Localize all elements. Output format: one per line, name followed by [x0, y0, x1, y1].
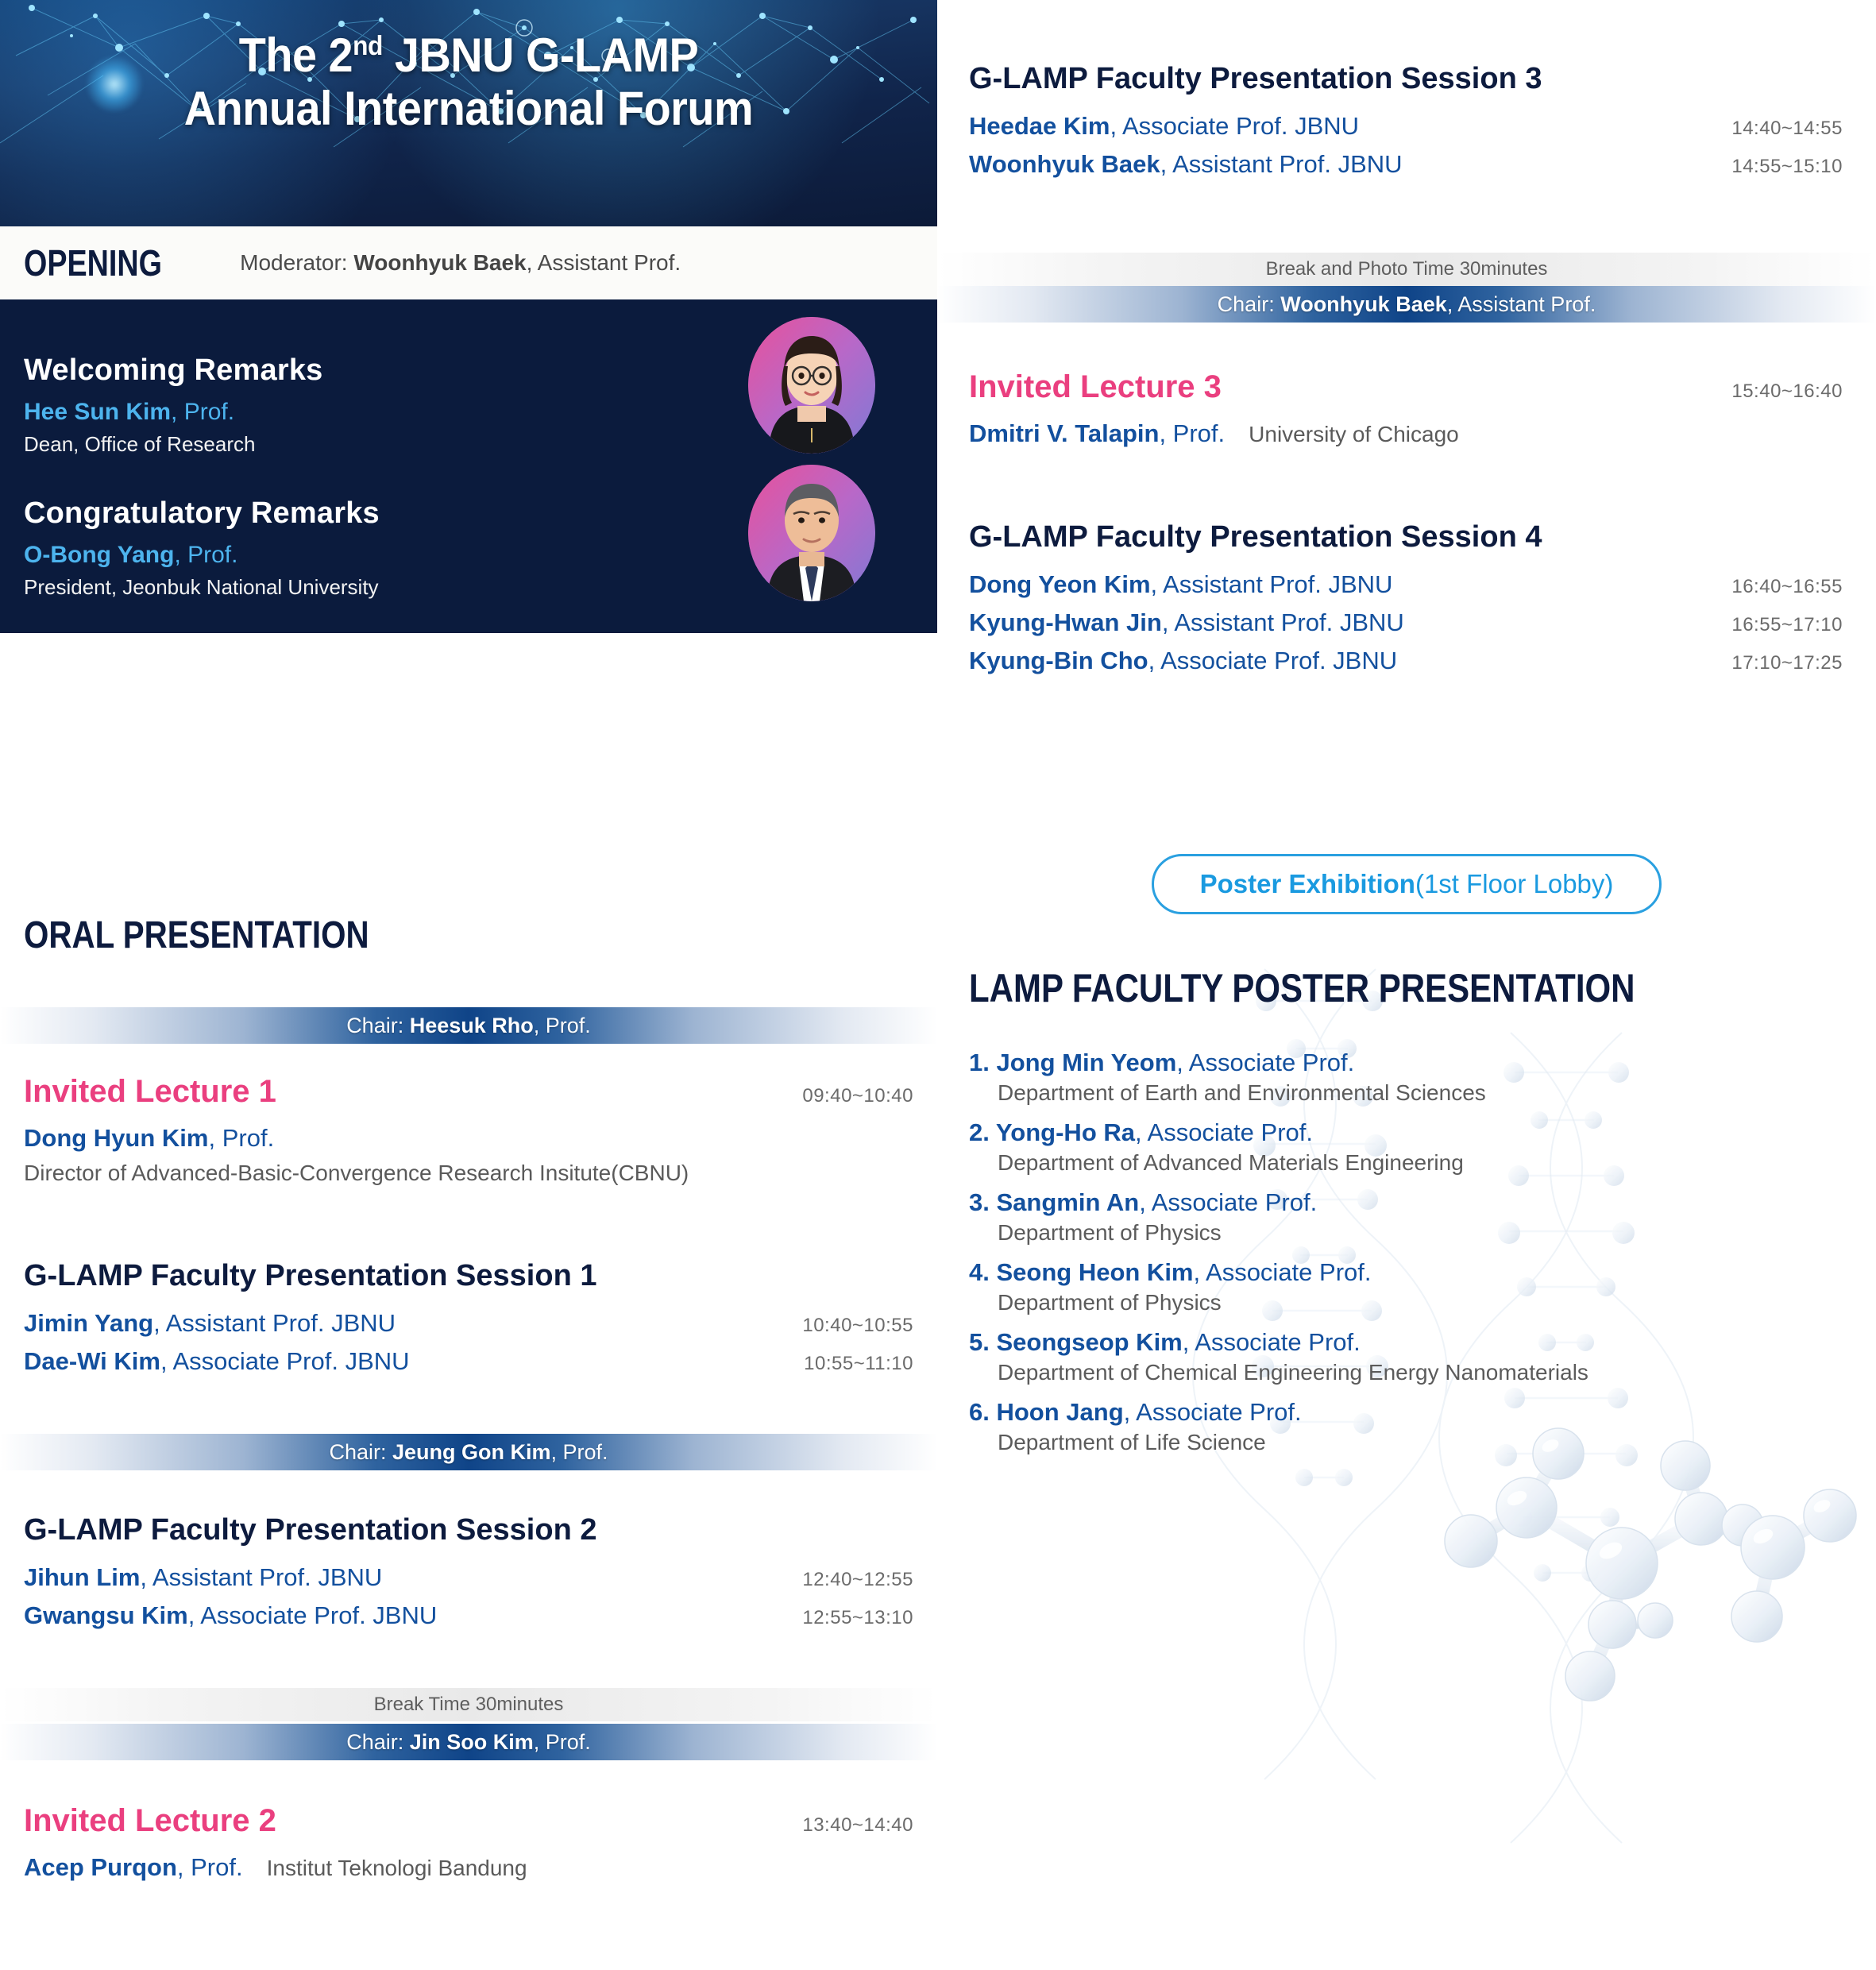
session-4-speaker-2: Kyung-Hwan Jin, Assistant Prof. JBNU — [969, 608, 1404, 637]
poster-4-dept: Department of Physics — [998, 1290, 1851, 1315]
session-4-time-2: 16:55~17:10 — [1731, 614, 1843, 636]
invited-lecture-1-affiliation: Director of Advanced-Basic-Convergence R… — [24, 1161, 913, 1186]
table-row: Heedae Kim, Associate Prof. JBNU 14:40~1… — [969, 112, 1843, 141]
session-4-time-1: 16:40~16:55 — [1731, 576, 1843, 598]
session-4-block: G-LAMP Faculty Presentation Session 4 Do… — [969, 520, 1843, 675]
poster-5-name: 5. Seongseop Kim, Associate Prof. — [969, 1328, 1851, 1357]
table-row: Dae-Wi Kim, Associate Prof. JBNU 10:55~1… — [24, 1347, 913, 1376]
poster-5-dept: Department of Chemical Engineering Energ… — [998, 1360, 1851, 1385]
opening-moderator: Moderator: Woonhyuk Baek, Assistant Prof… — [240, 250, 681, 276]
list-item: 1. Jong Min Yeom, Associate Prof. Depart… — [969, 1049, 1851, 1106]
invited-lecture-2-affiliation: Institut Teknologi Bandung — [267, 1856, 527, 1881]
session-3-title: G-LAMP Faculty Presentation Session 3 — [969, 62, 1843, 96]
session-1-block: G-LAMP Faculty Presentation Session 1 Ji… — [24, 1259, 913, 1376]
poster-presentation-heading-wrap: LAMP FACULTY POSTER PRESENTATION — [969, 965, 1762, 1011]
session-2-title: G-LAMP Faculty Presentation Session 2 — [24, 1513, 913, 1547]
invited-lecture-3-block: Invited Lecture 3 15:40~16:40 Dmitri V. … — [969, 369, 1843, 448]
poster-list: 1. Jong Min Yeom, Associate Prof. Depart… — [969, 1049, 1851, 1468]
list-item: 4. Seong Heon Kim, Associate Prof. Depar… — [969, 1258, 1851, 1315]
session-1-title: G-LAMP Faculty Presentation Session 1 — [24, 1259, 913, 1293]
session-4-time-3: 17:10~17:25 — [1731, 652, 1843, 674]
invited-lecture-1-title: Invited Lecture 1 — [24, 1074, 276, 1110]
invited-lecture-3-time: 15:40~16:40 — [1731, 380, 1843, 403]
poster-exhibition-badge-wrap: Poster Exhibition (1st Floor Lobby) — [937, 854, 1876, 914]
congratulatory-remarks-block: Congratulatory Remarks O-Bong Yang, Prof… — [24, 496, 380, 600]
molecule-graphic — [1445, 1428, 1856, 1701]
session-3-speaker-2: Woonhyuk Baek, Assistant Prof. JBNU — [969, 150, 1403, 179]
session-2-time-2: 12:55~13:10 — [802, 1607, 913, 1629]
list-item: 6. Hoon Jang, Associate Prof. Department… — [969, 1398, 1851, 1455]
table-row: Jimin Yang, Assistant Prof. JBNU 10:40~1… — [24, 1309, 913, 1338]
session-4-speaker-3: Kyung-Bin Cho, Associate Prof. JBNU — [969, 647, 1397, 675]
invited-lecture-1-block: Invited Lecture 1 09:40~10:40 Dong Hyun … — [24, 1074, 913, 1186]
welcoming-remarks-role: Dean, Office of Research — [24, 432, 323, 457]
oral-presentation-heading: ORAL PRESENTATION — [24, 914, 369, 957]
session-4-title: G-LAMP Faculty Presentation Session 4 — [969, 520, 1843, 554]
session-1-speaker-1: Jimin Yang, Assistant Prof. JBNU — [24, 1309, 396, 1338]
congratulatory-remarks-speaker: O-Bong Yang, Prof. — [24, 542, 380, 569]
poster-6-dept: Department of Life Science — [998, 1430, 1851, 1455]
session-3-block: G-LAMP Faculty Presentation Session 3 He… — [969, 62, 1843, 179]
oral-presentation-heading-wrap: ORAL PRESENTATION — [24, 914, 434, 957]
table-row: Gwangsu Kim, Associate Prof. JBNU 12:55~… — [24, 1601, 913, 1630]
poster-exhibition-location: (1st Floor Lobby) — [1415, 869, 1613, 899]
congratulatory-remarks-role: President, Jeonbuk National University — [24, 575, 380, 600]
poster-exhibition-badge[interactable]: Poster Exhibition (1st Floor Lobby) — [1152, 854, 1662, 914]
forum-program-poster: The 2nd JBNU G-LAMP Annual International… — [0, 0, 1876, 1970]
poster-exhibition-label: Poster Exhibition — [1200, 869, 1415, 899]
moderator-prefix: Moderator: — [240, 250, 353, 275]
moderator-name: Woonhyuk Baek — [353, 250, 526, 275]
chair-bar-jin-soo-kim: Chair: Jin Soo Kim, Prof. — [0, 1724, 937, 1760]
list-item: 5. Seongseop Kim, Associate Prof. Depart… — [969, 1328, 1851, 1385]
table-row: Kyung-Hwan Jin, Assistant Prof. JBNU 16:… — [969, 608, 1843, 637]
session-4-speaker-1: Dong Yeon Kim, Assistant Prof. JBNU — [969, 570, 1392, 599]
invited-lecture-3-speaker: Dmitri V. Talapin, Prof. — [969, 419, 1225, 448]
break-bar-2: Break and Photo Time 30minutes — [937, 253, 1876, 286]
poster-6-name: 6. Hoon Jang, Associate Prof. — [969, 1398, 1851, 1427]
page-title: The 2nd JBNU G-LAMP Annual International… — [33, 29, 904, 135]
welcoming-remarks-title: Welcoming Remarks — [24, 353, 323, 388]
break-bar-1-label: Break Time 30minutes — [374, 1694, 564, 1716]
poster-3-name: 3. Sangmin An, Associate Prof. — [969, 1188, 1851, 1217]
invited-lecture-3-title: Invited Lecture 3 — [969, 369, 1222, 405]
avatar — [748, 317, 875, 454]
chair-bar-label: Chair: Heesuk Rho, Prof. — [346, 1014, 591, 1038]
invited-lecture-2-speaker: Acep Purqon, Prof. — [24, 1853, 243, 1882]
poster-4-name: 4. Seong Heon Kim, Associate Prof. — [969, 1258, 1851, 1287]
chair-bar-label: Chair: Jeung Gon Kim, Prof. — [329, 1440, 608, 1465]
poster-3-dept: Department of Physics — [998, 1220, 1851, 1246]
invited-lecture-1-time: 09:40~10:40 — [802, 1085, 913, 1107]
poster-2-name: 2. Yong-Ho Ra, Associate Prof. — [969, 1118, 1851, 1147]
session-1-time-2: 10:55~11:10 — [804, 1353, 913, 1375]
session-2-block: G-LAMP Faculty Presentation Session 2 Ji… — [24, 1513, 913, 1630]
invited-lecture-2-time: 13:40~14:40 — [802, 1814, 913, 1837]
session-3-speaker-1: Heedae Kim, Associate Prof. JBNU — [969, 112, 1359, 141]
poster-1-name: 1. Jong Min Yeom, Associate Prof. — [969, 1049, 1851, 1077]
remarks-panel: Welcoming Remarks Hee Sun Kim, Prof. Dea… — [0, 299, 937, 633]
right-column: G-LAMP Faculty Presentation Session 3 He… — [937, 0, 1876, 1970]
chair-bar-woonhyuk-baek: Chair: Woonhyuk Baek, Assistant Prof. — [937, 286, 1876, 323]
table-row: Jihun Lim, Assistant Prof. JBNU 12:40~12… — [24, 1563, 913, 1592]
break-bar-2-label: Break and Photo Time 30minutes — [1266, 258, 1548, 280]
invited-lecture-2-block: Invited Lecture 2 13:40~14:40 Acep Purqo… — [24, 1803, 913, 1882]
session-2-speaker-2: Gwangsu Kim, Associate Prof. JBNU — [24, 1601, 437, 1630]
welcoming-remarks-block: Welcoming Remarks Hee Sun Kim, Prof. Dea… — [24, 353, 323, 457]
session-3-time-1: 14:40~14:55 — [1731, 118, 1843, 140]
invited-lecture-1-speaker: Dong Hyun Kim, Prof. — [24, 1124, 913, 1153]
table-row: Dong Yeon Kim, Assistant Prof. JBNU 16:4… — [969, 570, 1843, 599]
congratulatory-remarks-title: Congratulatory Remarks — [24, 496, 380, 531]
invited-lecture-2-title: Invited Lecture 2 — [24, 1803, 276, 1839]
session-1-time-1: 10:40~10:55 — [802, 1315, 913, 1337]
chair-bar-heesuk-rho: Chair: Heesuk Rho, Prof. — [0, 1007, 937, 1044]
invited-lecture-3-affiliation: University of Chicago — [1249, 422, 1459, 447]
left-column: The 2nd JBNU G-LAMP Annual International… — [0, 0, 937, 1970]
chair-bar-label: Chair: Jin Soo Kim, Prof. — [346, 1730, 591, 1755]
table-row: Kyung-Bin Cho, Associate Prof. JBNU 17:1… — [969, 647, 1843, 675]
female-portrait-avatar — [748, 317, 875, 454]
moderator-role: , Assistant Prof. — [527, 250, 681, 275]
opening-label: OPENING — [24, 241, 162, 284]
avatar — [748, 465, 875, 601]
session-2-time-1: 12:40~12:55 — [802, 1569, 913, 1591]
opening-strip: OPENING Moderator: Woonhyuk Baek, Assist… — [0, 226, 937, 299]
list-item: 2. Yong-Ho Ra, Associate Prof. Departmen… — [969, 1118, 1851, 1176]
session-2-speaker-1: Jihun Lim, Assistant Prof. JBNU — [24, 1563, 382, 1592]
poster-1-dept: Department of Earth and Environmental Sc… — [998, 1080, 1851, 1106]
session-3-time-2: 14:55~15:10 — [1731, 156, 1843, 178]
male-portrait-avatar — [748, 465, 875, 601]
poster-2-dept: Department of Advanced Materials Enginee… — [998, 1150, 1851, 1176]
poster-presentation-heading: LAMP FACULTY POSTER PRESENTATION — [969, 965, 1635, 1011]
list-item: 3. Sangmin An, Associate Prof. Departmen… — [969, 1188, 1851, 1246]
welcoming-remarks-speaker: Hee Sun Kim, Prof. — [24, 399, 323, 426]
hero-banner: The 2nd JBNU G-LAMP Annual International… — [0, 0, 937, 226]
break-bar-1: Break Time 30minutes — [0, 1688, 937, 1721]
session-1-speaker-2: Dae-Wi Kim, Associate Prof. JBNU — [24, 1347, 410, 1376]
table-row: Woonhyuk Baek, Assistant Prof. JBNU 14:5… — [969, 150, 1843, 179]
chair-bar-label: Chair: Woonhyuk Baek, Assistant Prof. — [1218, 292, 1596, 317]
chair-bar-jeung-gon-kim: Chair: Jeung Gon Kim, Prof. — [0, 1434, 937, 1470]
